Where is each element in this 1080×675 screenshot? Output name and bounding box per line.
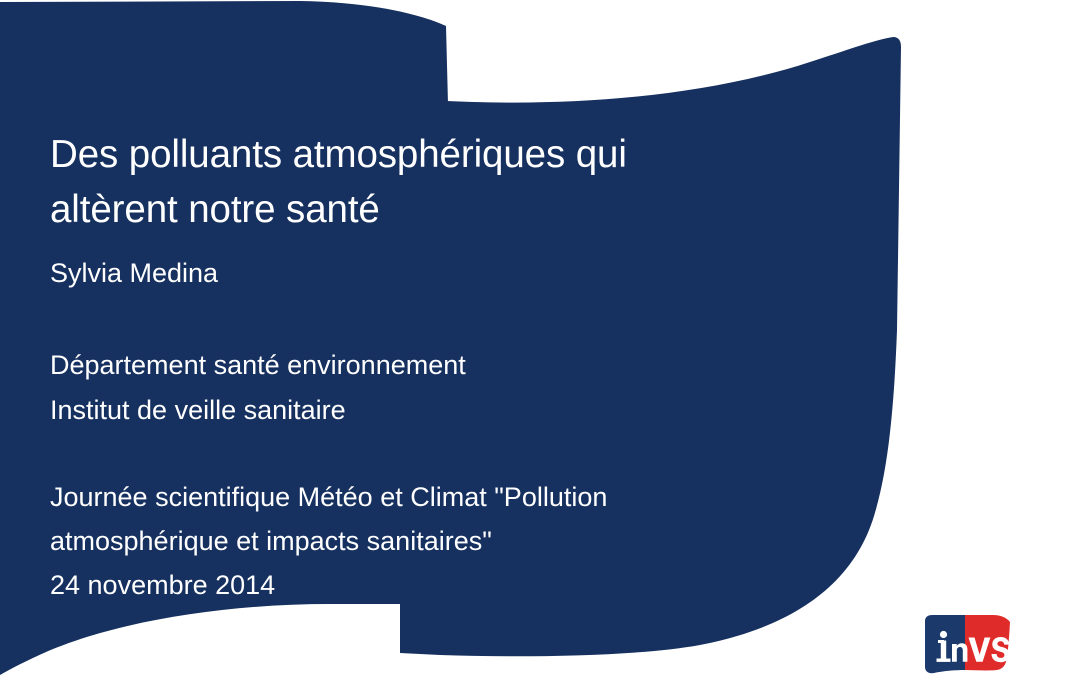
- invs-logo: [915, 613, 1015, 675]
- invs-logo-icon: [915, 613, 1015, 675]
- page-title: Des polluants atmosphériques qui altèren…: [50, 127, 810, 237]
- title-line-2: altèrent notre santé: [50, 182, 810, 237]
- event-date: 24 novembre 2014: [50, 563, 607, 607]
- affiliation-line-1: Département santé environnement: [50, 343, 466, 388]
- event-line-1: Journée scientifique Météo et Climat "Po…: [50, 475, 607, 519]
- slide-text-layer: Des polluants atmosphériques qui altèren…: [0, 0, 1080, 675]
- affiliation-block: Département santé environnement Institut…: [50, 343, 466, 433]
- affiliation-line-2: Institut de veille sanitaire: [50, 388, 466, 433]
- author-name: Sylvia Medina: [50, 256, 218, 290]
- event-block: Journée scientifique Météo et Climat "Po…: [50, 475, 607, 607]
- title-line-1: Des polluants atmosphériques qui: [50, 127, 810, 182]
- event-line-2: atmosphérique et impacts sanitaires": [50, 519, 607, 563]
- presentation-title-slide: Des polluants atmosphériques qui altèren…: [0, 0, 1080, 675]
